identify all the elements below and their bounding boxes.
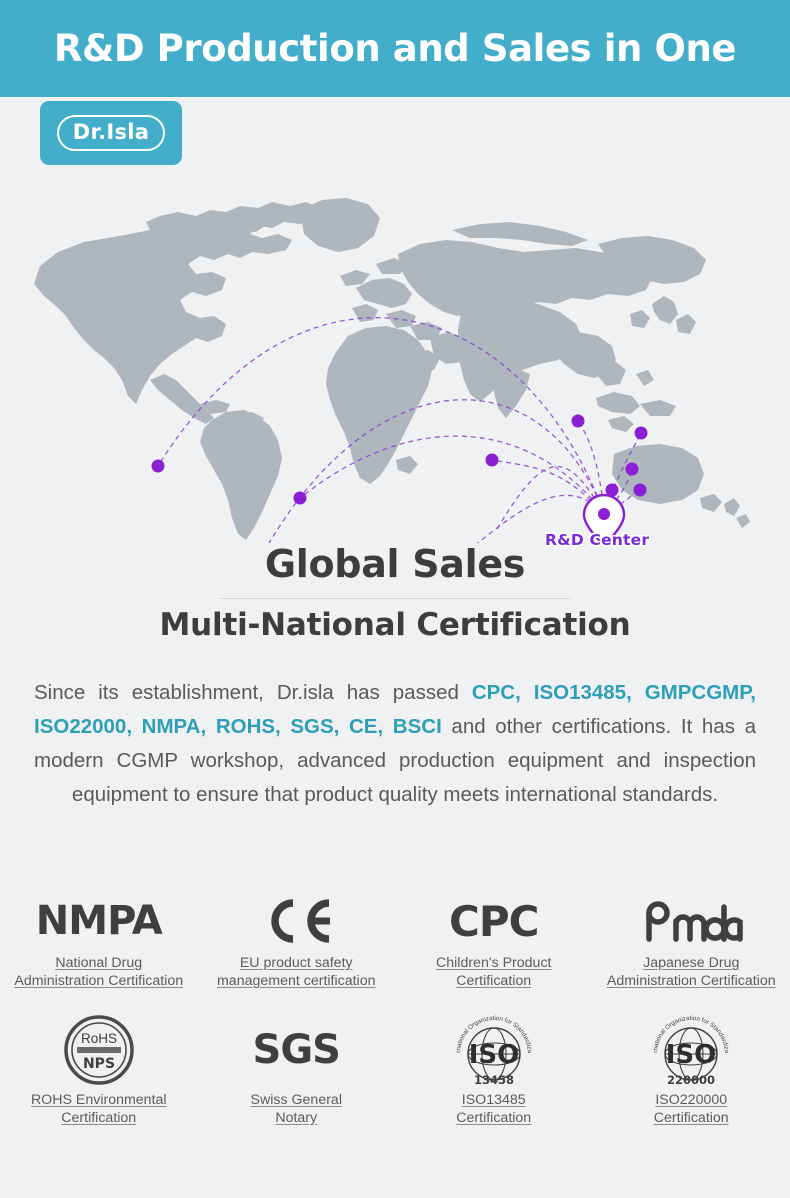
paragraph-part-1: Since its establishment, Dr.isla has pas… xyxy=(34,681,472,704)
nmpa-wordmark-text: NMPA xyxy=(36,898,162,944)
sgs-wordmark-icon: SGS xyxy=(253,1014,340,1086)
cert-item-nmpa: NMPA National Drug Administration Certif… xyxy=(0,893,198,990)
iso-seal-number: 13458 xyxy=(474,1073,514,1086)
certification-badges: NMPA National Drug Administration Certif… xyxy=(0,893,790,1127)
cert-caption: ISO13485 Certification xyxy=(456,1092,531,1127)
rohs-seal-bottom-text: NPS xyxy=(83,1056,115,1072)
cert-caption-line-2: management certification xyxy=(217,973,376,991)
cert-caption: ROHS Environmental Certification xyxy=(31,1092,167,1127)
cert-item-ce: EU product safety management certificati… xyxy=(198,893,396,990)
iso-seal-center-text: ISO xyxy=(468,1040,519,1070)
rohs-seal-top-text: RoHS xyxy=(81,1031,117,1046)
cert-caption-line-1: ISO220000 xyxy=(654,1092,729,1110)
cert-caption-line-2: Certification xyxy=(456,1110,531,1128)
cert-caption: ISO220000 Certification xyxy=(654,1092,729,1127)
cert-caption: Children's Product Certification xyxy=(436,955,551,990)
cert-item-pmda: Japanese Drug Administration Certificati… xyxy=(593,893,790,990)
cert-item-cpc: CPC Children's Product Certification xyxy=(395,893,593,990)
cert-caption: EU product safety management certificati… xyxy=(217,955,376,990)
cert-caption: Swiss General Notary xyxy=(251,1092,342,1127)
cert-item-rohs: RoHS NPS ROHS Environmental Certificatio… xyxy=(0,1014,198,1127)
cert-caption-line-2: Notary xyxy=(251,1110,342,1128)
ce-mark-icon xyxy=(259,893,333,949)
map-node xyxy=(294,492,307,505)
heading-divider xyxy=(219,598,571,599)
cert-caption-line-2: Certification xyxy=(436,973,551,991)
page-header-banner: R&D Production and Sales in One xyxy=(0,0,790,97)
cert-caption-line-2: Certification xyxy=(31,1110,167,1128)
cert-caption: National Drug Administration Certificati… xyxy=(14,955,183,990)
iso-seal-center-text: ISO xyxy=(666,1040,717,1070)
cert-caption-line-2: Certification xyxy=(654,1110,729,1128)
cpc-wordmark-text: CPC xyxy=(449,897,538,946)
body-paragraph: Since its establishment, Dr.isla has pas… xyxy=(34,676,756,812)
world-map: R&D Center xyxy=(0,168,790,543)
cert-caption-line-2: Administration Certification xyxy=(607,973,776,991)
cert-item-iso220000: International Organization for Standardi… xyxy=(593,1014,790,1127)
cert-caption-line-2: Administration Certification xyxy=(14,973,183,991)
cpc-wordmark-icon: CPC xyxy=(449,893,538,949)
world-map-svg xyxy=(0,168,790,543)
iso-seal-icon: International Organization for Standardi… xyxy=(639,1014,743,1086)
map-node xyxy=(626,463,639,476)
rohs-seal-icon: RoHS NPS xyxy=(64,1014,134,1086)
cert-caption-line-1: ISO13485 xyxy=(456,1092,531,1110)
cert-caption-line-1: ROHS Environmental xyxy=(31,1092,167,1110)
cert-caption-line-1: Japanese Drug xyxy=(607,955,776,973)
brand-logo-text: Dr.Isla xyxy=(57,115,166,151)
sgs-wordmark-text: SGS xyxy=(253,1027,340,1073)
nmpa-wordmark-icon: NMPA xyxy=(36,893,162,949)
page-title: R&D Production and Sales in One xyxy=(54,27,736,70)
map-node xyxy=(634,484,647,497)
section-headings: Global Sales Multi-National Certificatio… xyxy=(0,543,790,643)
pmda-wordmark-icon xyxy=(636,893,746,949)
map-node xyxy=(572,415,585,428)
certification-row-2: RoHS NPS ROHS Environmental Certificatio… xyxy=(0,1014,790,1127)
cert-caption-line-1: Swiss General xyxy=(251,1092,342,1110)
cert-caption-line-1: EU product safety xyxy=(217,955,376,973)
cert-caption-line-1: National Drug xyxy=(14,955,183,973)
map-node xyxy=(486,454,499,467)
cert-caption: Japanese Drug Administration Certificati… xyxy=(607,955,776,990)
map-node xyxy=(635,427,648,440)
brand-logo: Dr.Isla xyxy=(40,101,182,165)
cert-caption-line-1: Children's Product xyxy=(436,955,551,973)
certification-row-1: NMPA National Drug Administration Certif… xyxy=(0,893,790,990)
heading-multi-national-certification: Multi-National Certification xyxy=(0,607,790,643)
map-node xyxy=(152,460,165,473)
iso-seal-number: 220000 xyxy=(667,1073,715,1086)
cert-item-iso13485: International Organization for Standardi… xyxy=(395,1014,593,1127)
cert-item-sgs: SGS Swiss General Notary xyxy=(198,1014,396,1127)
iso-seal-icon: International Organization for Standardi… xyxy=(442,1014,546,1086)
heading-global-sales: Global Sales xyxy=(0,543,790,587)
